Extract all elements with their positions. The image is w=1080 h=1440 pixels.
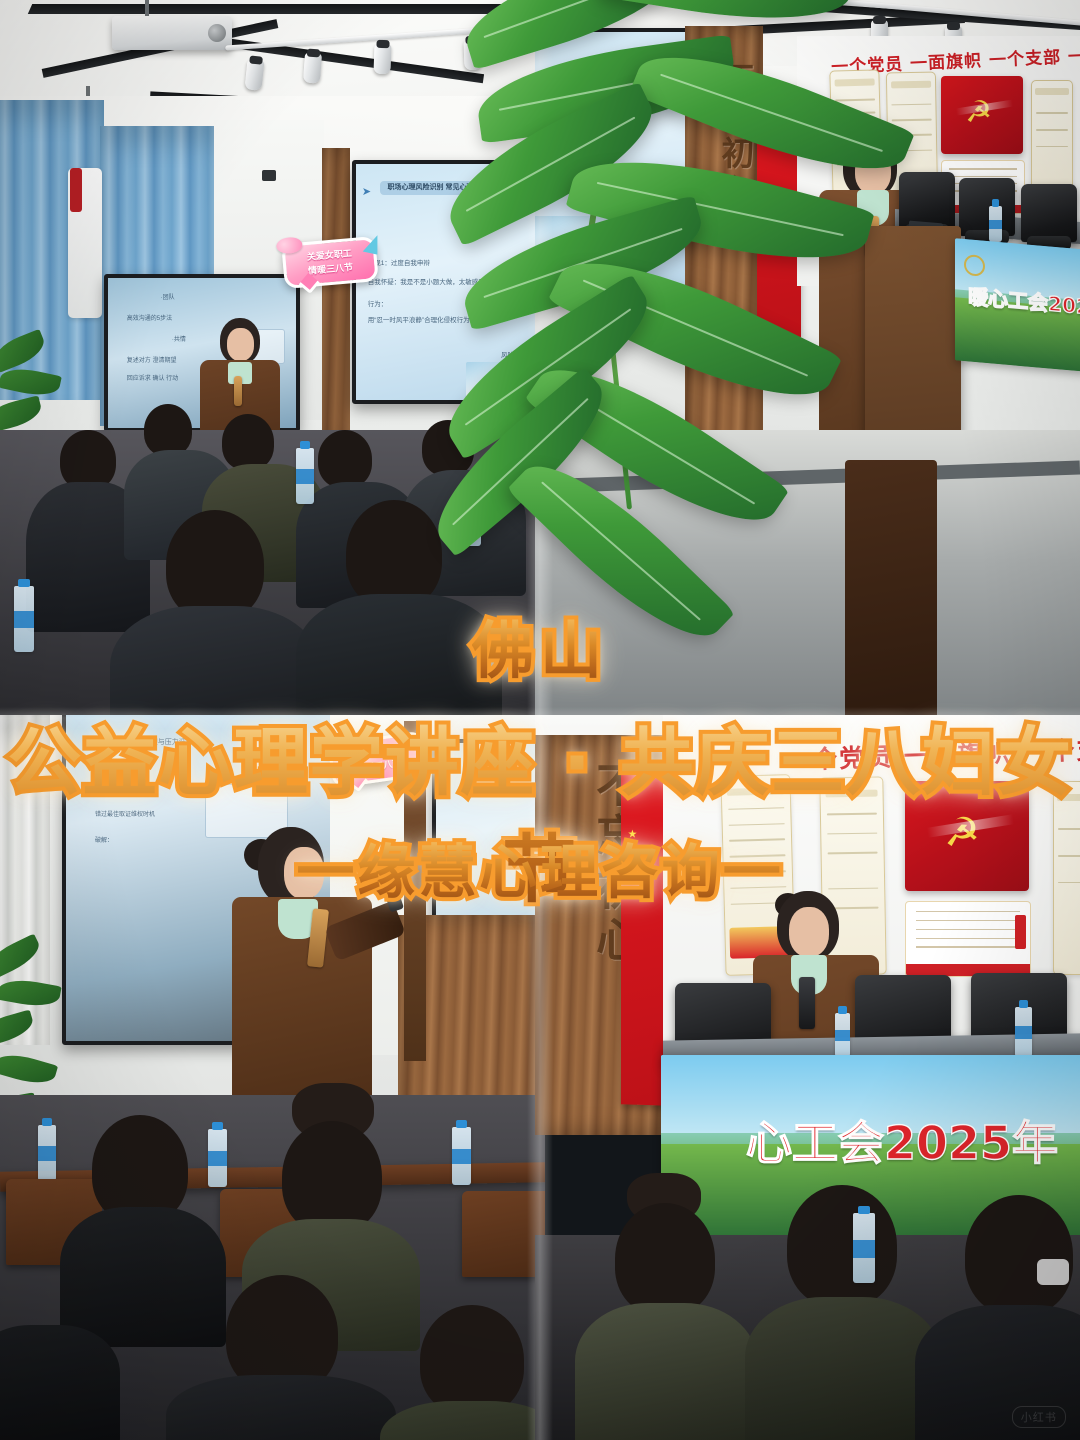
board-line (835, 99, 874, 102)
audience-body (110, 606, 320, 720)
audience-member (753, 1185, 933, 1440)
audience-head (60, 430, 116, 490)
slide-line: 法律对职场性骚扰的认定 (535, 160, 542, 171)
slide-line: 高效沟通的5步法 (127, 314, 172, 325)
banner-text: 心工会2025年 (746, 1107, 1058, 1173)
audience-head (787, 1185, 897, 1307)
presenter-lower-body (845, 460, 937, 720)
board-line (1058, 855, 1080, 857)
oath-line (916, 929, 1020, 931)
oath-line (916, 920, 1020, 922)
audience-member (585, 1173, 745, 1440)
audience-head (615, 1203, 715, 1315)
calligraphy-text: 不忘初心 (711, 62, 759, 282)
board-line (729, 823, 785, 826)
audience-body (166, 1375, 396, 1440)
water-bottle (853, 1213, 875, 1283)
board-line (1036, 112, 1069, 114)
collage-photo-top-left: ➤ 职场心理风险识别 常见心理陷阱 表现1：过度自我申辩 自我怀疑：我是不是小题… (0, 0, 545, 720)
slide-line: 风险： (501, 350, 521, 361)
board-line (827, 832, 878, 834)
water-bottle (296, 448, 314, 504)
audience-head (222, 414, 274, 470)
collage-photo-top-right: 用“忍一时风平浪静”合理化侵权行为 破解： 法律对职场性骚扰的认定 《民法典》第… (535, 0, 1080, 720)
presenter-face (284, 847, 324, 899)
podium (865, 226, 961, 462)
audience-head (346, 500, 442, 608)
water-bottle (1015, 1007, 1032, 1057)
slide-line: ·共情 (172, 335, 186, 346)
board-line (1036, 146, 1069, 148)
water-bottle (14, 586, 34, 652)
slide-line: ·团队 (161, 293, 175, 304)
slide-line: 回应诉求 确认 行动 (127, 374, 178, 385)
office-chair (1021, 184, 1077, 242)
organization-logo (634, 55, 651, 72)
slide-line: 错过最佳取证维权时机 (95, 810, 155, 821)
office-chair (959, 178, 1015, 236)
projection-screen: 用“忍一时风平浪静”合理化侵权行为 破解： 法律对职场性骚扰的认定 《民法典》第… (535, 28, 691, 292)
board-title-bar (727, 787, 784, 795)
face-mask (1037, 1259, 1069, 1285)
board-line (892, 103, 931, 105)
slide-line: 《民法典》第1010条 产假98天 (535, 186, 559, 197)
audience-head (420, 1305, 524, 1415)
audience-head (965, 1195, 1073, 1315)
presenter-face (227, 328, 254, 361)
presenter-face (789, 907, 829, 957)
microphone (234, 376, 242, 406)
party-oath-box (905, 901, 1031, 977)
plant-leaf (0, 329, 49, 373)
track-light (244, 59, 264, 91)
track-light (373, 44, 391, 75)
party-flag-emblem: ☭ (941, 76, 1023, 154)
ceiling-trim (28, 4, 545, 14)
oath-line (949, 176, 1018, 178)
oath-line (916, 946, 1020, 948)
water-bottle (835, 1013, 850, 1057)
projector (112, 16, 232, 50)
plant-leaf (0, 364, 62, 400)
oath-line (949, 168, 1018, 170)
bow-icon (276, 236, 303, 254)
event-sticker-badge: 关爱女职工 情暖三八节 (281, 236, 379, 289)
collage-photo-bottom-left: 情绪管理与压力调适 行为： 错过最佳取证维权时机 破解： (0, 715, 545, 1440)
ribbon-icon (411, 728, 429, 749)
sticker-line-2: 情暖三八节 (308, 260, 354, 277)
audience-member (246, 1087, 416, 1297)
board-line (1036, 129, 1069, 131)
party-info-board (1053, 781, 1080, 975)
board-title-bar (825, 789, 877, 797)
audience-head (144, 404, 192, 456)
audience-member (110, 510, 320, 720)
wall-marker (70, 168, 82, 212)
audience-head (318, 430, 372, 488)
plant-leaf (0, 1009, 36, 1048)
board-line (1058, 828, 1080, 830)
board-line (730, 854, 786, 857)
board-line (826, 813, 877, 815)
water-bottle (452, 1127, 471, 1185)
wood-column (322, 148, 350, 448)
audience-member (300, 500, 500, 720)
slide-heading: 职场心理风险识别 常见心理陷阱 (380, 181, 496, 196)
poster-canvas: ➤ 职场心理风险识别 常见心理陷阱 表现1：过度自我申辩 自我怀疑：我是不是小题… (0, 0, 1080, 1440)
collage-photo-bottom-right: 不忘初心 一个党员 一面旗帜 一个支部 一座堡垒 (535, 715, 1080, 1440)
board-title-bar (834, 78, 875, 86)
slide-line: 用“忍一时风平浪静”合理化侵权行为 (535, 109, 572, 120)
slide-line: 行为： (368, 299, 388, 310)
plant-leaf (0, 1049, 58, 1089)
board-line (836, 111, 875, 114)
board-line (729, 839, 785, 842)
party-flag-emblem: ☭ (905, 781, 1029, 891)
slide-line: 破解： (95, 836, 113, 847)
oath-side-tab (1015, 915, 1026, 949)
slide-line: 复述对方 澄清期望 (127, 356, 177, 367)
audience-body (296, 594, 502, 720)
oath-line (916, 938, 1020, 940)
track-light (303, 52, 322, 83)
security-camera (262, 170, 276, 181)
slide-line: 行为： (95, 784, 113, 795)
audience-head (422, 420, 474, 476)
plant-leaf (0, 395, 44, 433)
water-bottle (38, 1125, 56, 1181)
audience-member (166, 1275, 396, 1440)
audience-body (0, 1325, 120, 1440)
board-title-bar (1035, 88, 1069, 95)
track-light (463, 40, 481, 71)
wooden-chair (462, 1191, 545, 1277)
board-line (836, 124, 875, 127)
board-line (730, 870, 786, 873)
audience-member (380, 1305, 545, 1440)
audience-body (380, 1401, 545, 1440)
board-title-bar (1057, 794, 1080, 801)
audience-head (166, 510, 264, 620)
board-line (892, 119, 931, 121)
water-bottle (989, 206, 1002, 242)
oath-line (916, 911, 1020, 913)
audience-member (0, 1315, 120, 1440)
slide-line: 用“忍一时风平浪静”合理化侵权行为 (368, 315, 470, 326)
china-flag (757, 85, 801, 337)
audience-body (745, 1297, 941, 1440)
presenter-face (855, 150, 891, 194)
slide-line: 情绪管理与压力调适 (130, 737, 193, 749)
audience-head (282, 1121, 382, 1233)
slide-image (466, 362, 517, 400)
board-title-bar (891, 80, 931, 88)
board-line (730, 886, 786, 889)
slide-image (535, 216, 619, 277)
board-line (1058, 882, 1080, 884)
watermark: 小红书 (1012, 1406, 1066, 1428)
projection-screen (432, 739, 545, 927)
slide-bullet-icon: ➤ (362, 185, 371, 198)
presenter (232, 821, 402, 1121)
table-banner: 暖心工会2025 (955, 238, 1080, 372)
audience-member (921, 1195, 1080, 1440)
audience-body (575, 1303, 757, 1440)
microphone (799, 977, 815, 1029)
board-line (827, 852, 878, 854)
board-line (728, 807, 784, 810)
plant-leaf (0, 976, 62, 1010)
projection-screen: ➤ 职场心理风险识别 常见心理陷阱 表现1：过度自我申辩 自我怀疑：我是不是小题… (352, 160, 545, 404)
board-line (828, 887, 879, 889)
slide-line: 自我怀疑：我是不是小题大做，太敏感了？ (368, 277, 492, 288)
